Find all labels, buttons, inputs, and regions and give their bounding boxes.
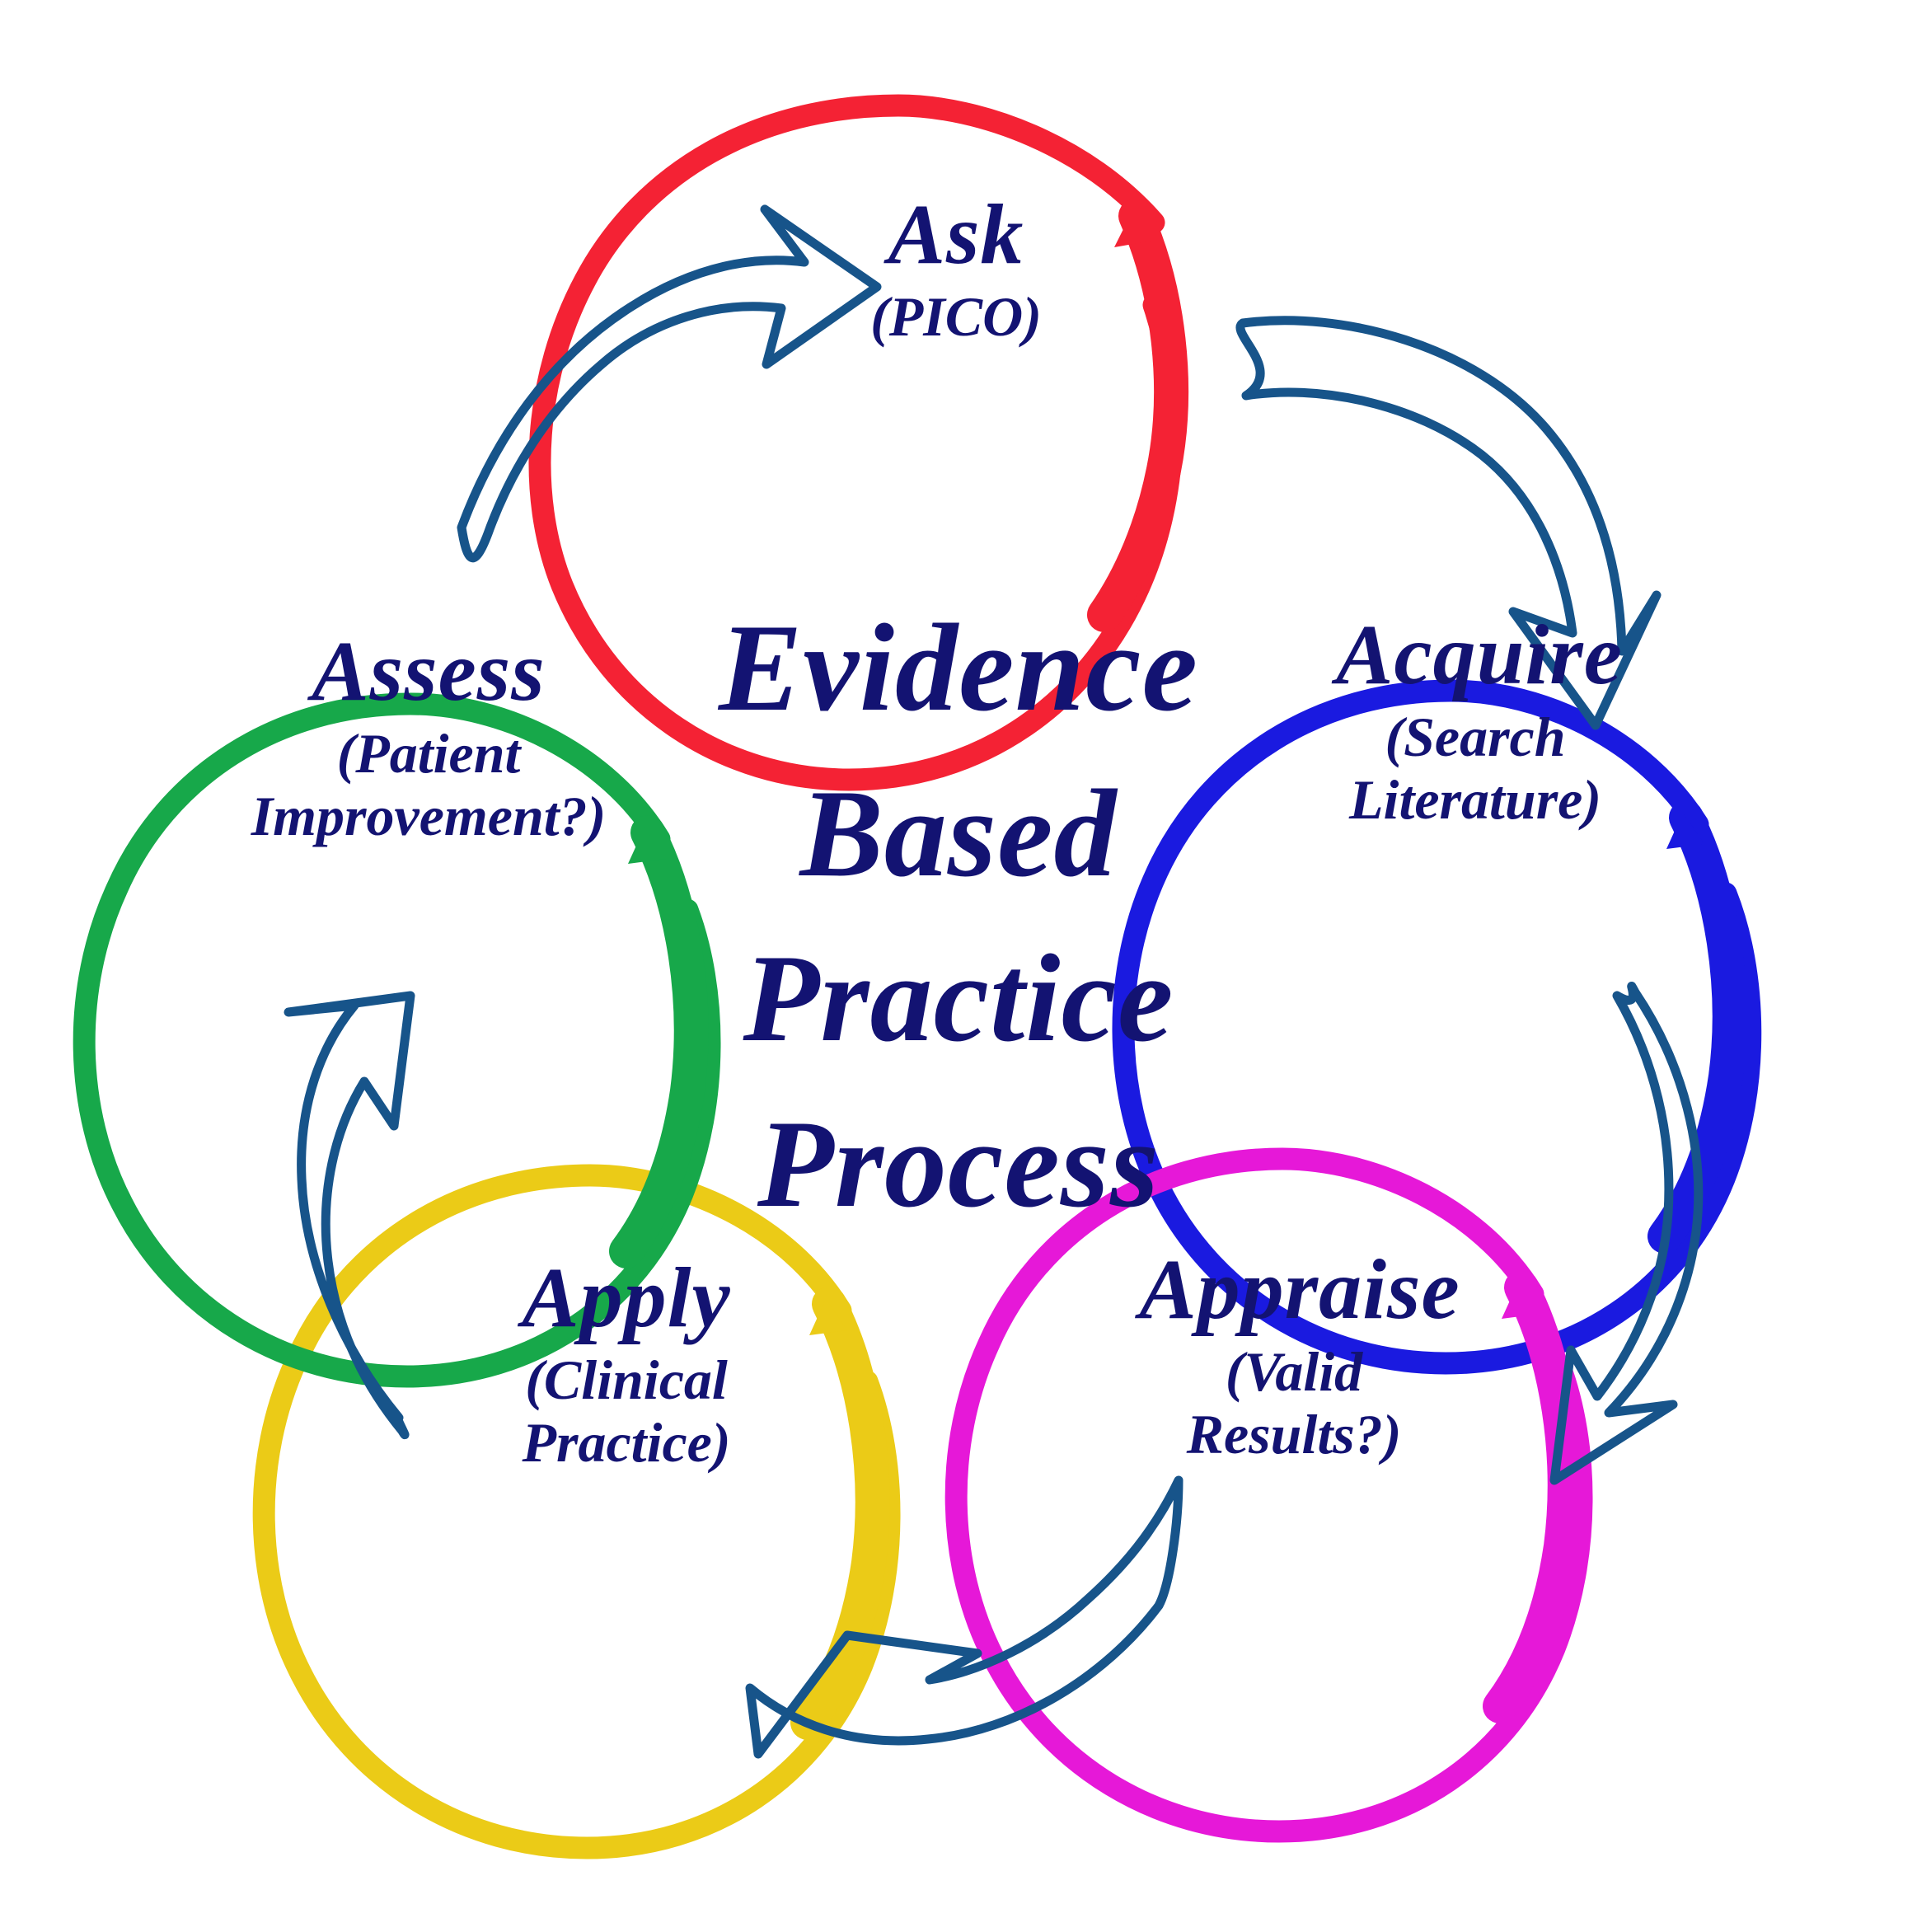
node-apply-sublabel-line-1: (Clinical — [396, 1348, 857, 1411]
node-label-ask[interactable]: Ask (PICO) — [725, 190, 1187, 348]
node-label-assess[interactable]: Assess (Patient Improvement?) — [190, 626, 668, 848]
node-apply-title: Apply — [396, 1253, 857, 1343]
node-assess-sublabel-line-2: Improvement?) — [190, 785, 668, 847]
node-appraise-sublabel-line-1: (Valid — [1063, 1340, 1525, 1403]
node-ask-title: Ask — [725, 190, 1187, 280]
evidence-based-practice-diagram: Evidence Based Practice Process Ask (PIC… — [0, 0, 1917, 1932]
node-appraise-sublabel: (Valid Results?) — [1063, 1340, 1525, 1465]
node-apply-sublabel: (Clinical Practice) — [396, 1348, 857, 1474]
diagram-title: Evidence Based Practice Process — [670, 585, 1247, 1247]
node-label-acquire[interactable]: Acquire (Search Literature) — [1236, 610, 1714, 832]
diagram-title-line-1: Evidence — [670, 585, 1247, 751]
node-ask-sublabel-line-1: (PICO) — [725, 285, 1187, 348]
node-label-appraise[interactable]: Appraise (Valid Results?) — [1063, 1245, 1525, 1466]
node-acquire-sublabel-line-1: (Search — [1236, 706, 1714, 768]
node-acquire-title: Acquire — [1244, 610, 1714, 701]
node-assess-title: Assess — [190, 626, 668, 717]
node-acquire-sublabel-line-2: Literature) — [1236, 768, 1714, 831]
node-ask-sublabel: (PICO) — [725, 285, 1187, 348]
node-apply-sublabel-line-2: Practice) — [396, 1411, 857, 1474]
diagram-title-line-2: Based — [670, 751, 1247, 917]
node-assess-sublabel: (Patient Improvement?) — [190, 722, 668, 847]
node-acquire-sublabel: (Search Literature) — [1236, 706, 1714, 831]
node-label-apply[interactable]: Apply (Clinical Practice) — [396, 1253, 857, 1475]
node-appraise-title: Appraise — [1075, 1245, 1525, 1335]
diagram-title-line-4: Process — [670, 1081, 1247, 1247]
node-assess-sublabel-line-1: (Patient — [190, 722, 668, 785]
node-appraise-sublabel-line-2: Results?) — [1063, 1403, 1525, 1465]
diagram-title-line-3: Practice — [670, 916, 1247, 1081]
